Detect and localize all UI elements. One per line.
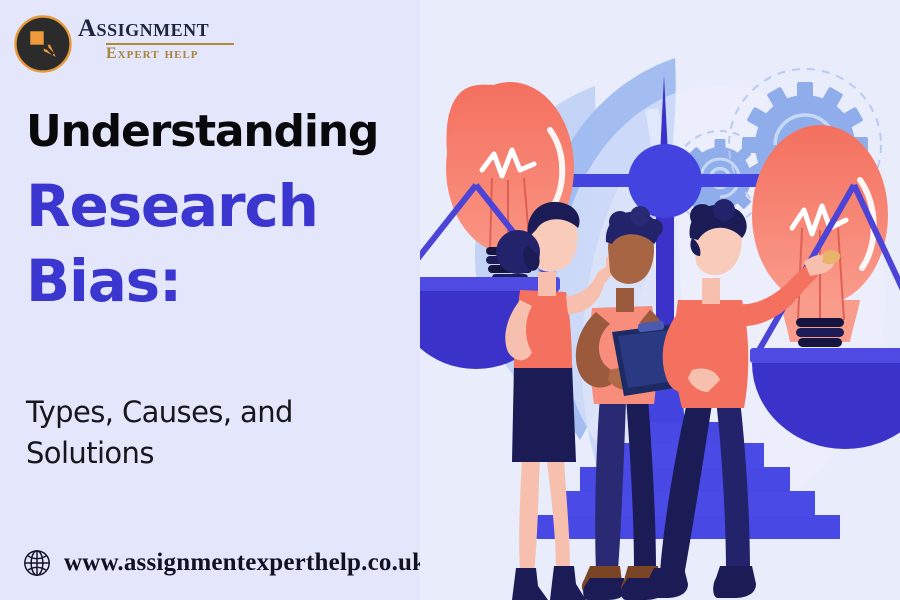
footer[interactable]: www.assignmentexperthelp.co.uk <box>22 548 426 578</box>
brand-tagline: Expert help <box>106 46 248 62</box>
globe-icon <box>22 548 52 578</box>
page-title: Understanding Research Bias: <box>26 110 436 327</box>
title-line-3: Bias: <box>26 252 436 311</box>
brand-logo[interactable]: Assignment Expert help <box>14 12 254 78</box>
title-line-1: Understanding <box>26 110 436 155</box>
website-url[interactable]: www.assignmentexperthelp.co.uk <box>64 549 426 577</box>
brand-logo-text: Assignment Expert help <box>78 16 248 62</box>
blog-banner: Assignment Expert help Understanding Res… <box>0 0 900 600</box>
fountain-pen-nib-icon <box>14 15 72 73</box>
brand-name: Assignment <box>78 16 248 41</box>
title-line-2: Research <box>26 177 436 236</box>
hero-illustration <box>420 0 900 600</box>
page-subtitle: Types, Causes, and Solutions <box>26 392 426 474</box>
